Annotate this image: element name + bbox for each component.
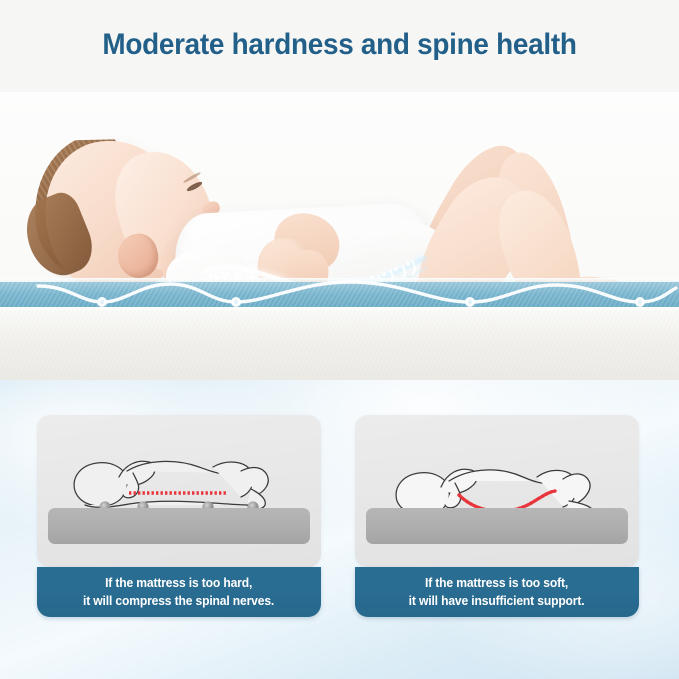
caption-line-1: If the mattress is too soft, — [425, 574, 568, 592]
panel-card-too-soft — [355, 415, 639, 567]
baby-on-soft-mattress-illustration-icon — [355, 415, 639, 567]
baby-on-hard-mattress-illustration-icon — [37, 415, 321, 567]
page-title: Moderate hardness and spine health — [24, 28, 655, 62]
hero-photo — [0, 92, 679, 380]
panel-too-hard: If the mattress is too hard, it will com… — [37, 415, 321, 652]
panel-too-soft: If the mattress is too soft, it will hav… — [355, 415, 639, 652]
caption-too-soft: If the mattress is too soft, it will hav… — [355, 567, 639, 617]
caption-line-1: If the mattress is too hard, — [105, 574, 252, 592]
panel-card-too-hard — [37, 415, 321, 567]
mattress-support-wave-line-icon — [0, 272, 679, 322]
hard-mattress-bar — [48, 508, 310, 544]
caption-too-hard: If the mattress is too hard, it will com… — [37, 567, 321, 617]
product-infographic-page: Moderate hardness and spine health — [0, 0, 679, 679]
soft-mattress-bar — [366, 508, 628, 544]
caption-line-2: it will compress the spinal nerves. — [83, 592, 274, 610]
comparison-section: If the mattress is too hard, it will com… — [0, 380, 679, 679]
hero-section: Moderate hardness and spine health — [0, 0, 679, 380]
caption-line-2: it will have insufficient support. — [409, 592, 585, 610]
